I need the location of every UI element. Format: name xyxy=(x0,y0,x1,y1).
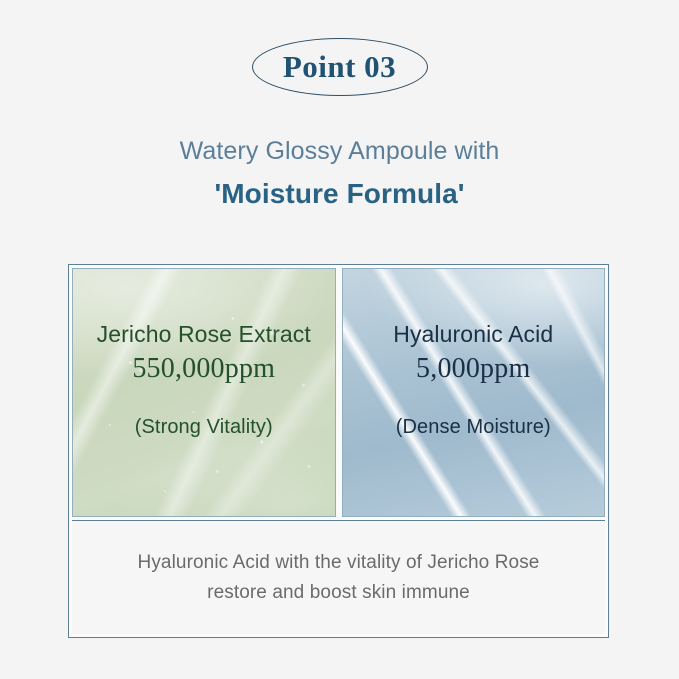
ingredient-amount: 550,000ppm xyxy=(132,353,275,385)
ingredient-panel-jericho-rose: Jericho Rose Extract 550,000ppm (Strong … xyxy=(72,268,336,517)
point-badge-container: Point 03 xyxy=(0,38,679,96)
ingredient-panel-hyaluronic-acid: Hyaluronic Acid 5,000ppm (Dense Moisture… xyxy=(342,268,606,517)
ingredient-panels: Jericho Rose Extract 550,000ppm (Strong … xyxy=(69,265,608,520)
caption-line-1: Hyaluronic Acid with the vitality of Jer… xyxy=(138,548,540,578)
point-badge-label: Point 03 xyxy=(283,51,396,84)
ingredient-amount: 5,000ppm xyxy=(416,353,530,385)
ingredient-title: Hyaluronic Acid xyxy=(393,321,553,347)
ingredient-note: (Strong Vitality) xyxy=(135,416,273,439)
caption-line-2: restore and boost skin immune xyxy=(207,578,470,608)
ingredient-title: Jericho Rose Extract xyxy=(97,321,311,347)
ingredient-card: Jericho Rose Extract 550,000ppm (Strong … xyxy=(68,264,609,638)
card-caption: Hyaluronic Acid with the vitality of Jer… xyxy=(72,520,605,634)
ingredient-note: (Dense Moisture) xyxy=(396,416,551,439)
subtitle-block: Watery Glossy Ampoule with 'Moisture For… xyxy=(0,134,679,214)
point-badge: Point 03 xyxy=(252,38,428,96)
subtitle-line-1: Watery Glossy Ampoule with xyxy=(0,134,679,168)
subtitle-line-2: 'Moisture Formula' xyxy=(0,174,679,214)
